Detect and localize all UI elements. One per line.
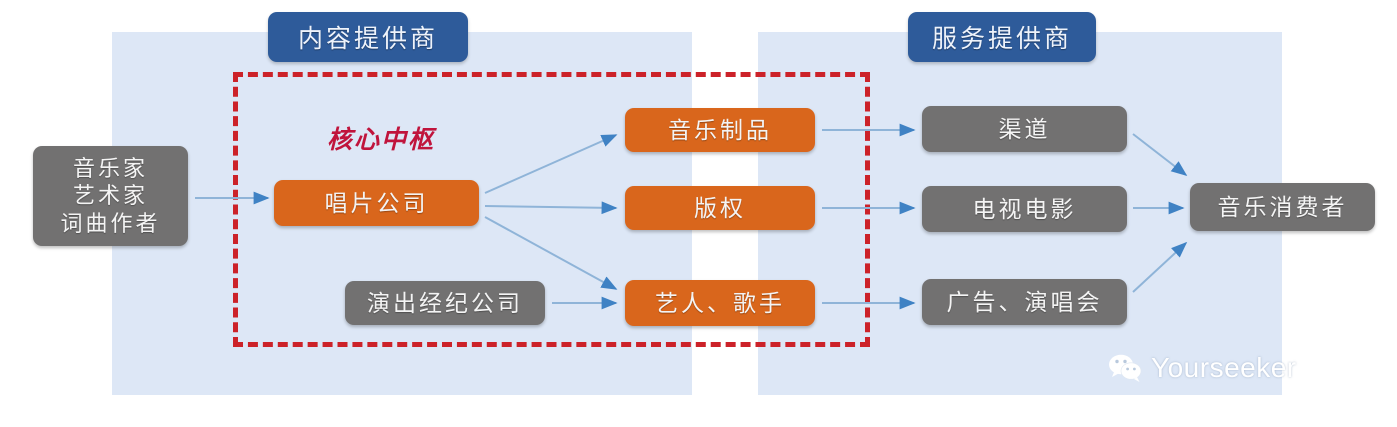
header-content-provider: 内容提供商 — [268, 12, 468, 62]
node-music-consumers-label: 音乐消费者 — [1218, 193, 1348, 222]
node-channel: 渠道 — [922, 106, 1127, 152]
node-performance-agency: 演出经纪公司 — [345, 281, 545, 325]
node-performance-agency-label: 演出经纪公司 — [367, 289, 523, 318]
wechat-icon — [1108, 353, 1142, 383]
node-creators-line2: 艺术家 — [73, 182, 148, 210]
header-service-provider: 服务提供商 — [908, 12, 1096, 62]
diagram-canvas: 内容提供商 服务提供商 核心中枢 音乐家 艺术家 词曲作者 唱片公司 演出经纪公… — [0, 0, 1397, 427]
node-artists-singers: 艺人、歌手 — [625, 280, 815, 326]
node-tv-film: 电视电影 — [922, 186, 1127, 232]
node-copyright: 版权 — [625, 186, 815, 230]
node-copyright-label: 版权 — [694, 194, 746, 223]
node-music-products-label: 音乐制品 — [668, 116, 772, 145]
watermark: Yourseeker — [1108, 352, 1297, 384]
node-ads-concerts: 广告、演唱会 — [922, 279, 1127, 325]
node-music-products: 音乐制品 — [625, 108, 815, 152]
header-service-provider-label: 服务提供商 — [932, 19, 1072, 55]
node-music-consumers: 音乐消费者 — [1190, 183, 1375, 231]
core-hub-label: 核心中枢 — [327, 120, 435, 156]
node-tv-film-label: 电视电影 — [973, 195, 1077, 224]
watermark-text: Yourseeker — [1151, 352, 1297, 384]
node-artists-singers-label: 艺人、歌手 — [655, 289, 785, 318]
node-ads-concerts-label: 广告、演唱会 — [947, 288, 1103, 317]
node-record-company-label: 唱片公司 — [325, 189, 429, 218]
node-creators-line3: 词曲作者 — [60, 210, 160, 238]
node-record-company: 唱片公司 — [274, 180, 479, 226]
node-channel-label: 渠道 — [999, 115, 1051, 144]
node-creators-line1: 音乐家 — [73, 155, 148, 183]
header-content-provider-label: 内容提供商 — [298, 19, 438, 55]
node-creators: 音乐家 艺术家 词曲作者 — [33, 146, 188, 246]
